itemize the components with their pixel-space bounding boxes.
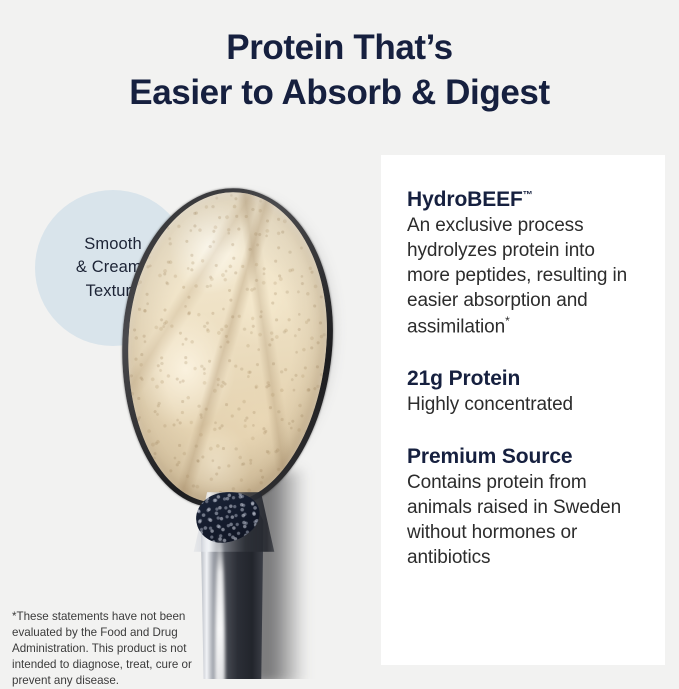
footnote-marker: * — [505, 314, 510, 328]
headline-line-2: Easier to Absorb & Digest — [0, 71, 679, 116]
benefit-block-premium-source: Premium Source Contains protein from ani… — [407, 444, 639, 571]
benefit-body: Highly concentrated — [407, 393, 639, 418]
fda-disclaimer: *These statements have not been evaluate… — [12, 609, 224, 689]
benefits-card: HydroBEEF™ An exclusive process hydrolyz… — [381, 155, 665, 665]
benefit-title-text: HydroBEEF — [407, 188, 523, 211]
trademark-symbol: ™ — [523, 190, 533, 201]
marketing-image: Protein That’s Easier to Absorb & Digest… — [0, 0, 679, 679]
benefit-title-text: 21g Protein — [407, 367, 520, 390]
benefit-body: An exclusive process hydrolyzes protein … — [407, 214, 639, 340]
protein-powder-heap — [117, 185, 336, 509]
page-title: Protein That’s Easier to Absorb & Digest — [0, 26, 679, 116]
product-photo: Smooth & Creamy Texture — [0, 140, 400, 679]
benefit-block-protein: 21g Protein Highly concentrated — [407, 366, 639, 418]
benefit-body: Contains protein from animals raised in … — [407, 471, 639, 571]
spoon-bowl — [111, 181, 343, 515]
benefit-body-text: Contains protein from animals raised in … — [407, 472, 621, 568]
benefit-body-text: Highly concentrated — [407, 394, 573, 415]
benefit-block-hydrobeef: HydroBEEF™ An exclusive process hydrolyz… — [407, 187, 639, 340]
powder-rim-highlight — [117, 185, 336, 509]
benefit-body-text: An exclusive process hydrolyzes protein … — [407, 215, 627, 337]
benefit-title: Premium Source — [407, 444, 639, 469]
benefit-title: HydroBEEF™ — [407, 187, 639, 212]
benefit-title: 21g Protein — [407, 366, 639, 391]
benefit-title-text: Premium Source — [407, 445, 573, 468]
headline-line-1: Protein That’s — [0, 26, 679, 71]
